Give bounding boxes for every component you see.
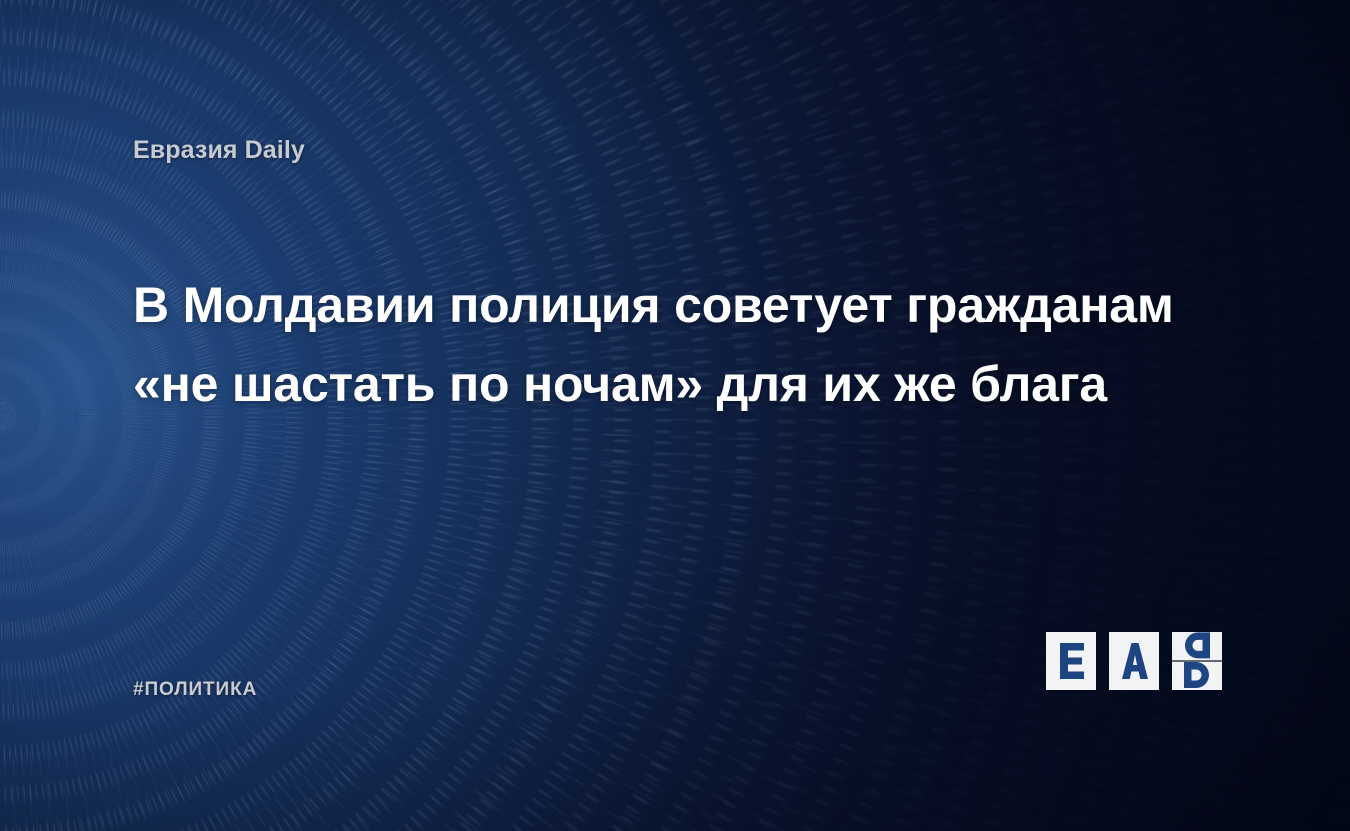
headline: В Молдавии полиция советует гражданам «н…	[133, 266, 1203, 424]
category-tag: #ПОЛИТИКА	[133, 679, 257, 701]
eadaily-logo	[1046, 632, 1222, 690]
eadaily-logo-mark	[1046, 632, 1222, 690]
logo-letter-e	[1060, 643, 1084, 679]
logo-tile-a-background	[1109, 632, 1159, 690]
news-share-card: Евразия Daily В Молдавии полиция советуе…	[0, 0, 1350, 831]
brand-name: Евразия Daily	[133, 136, 305, 165]
